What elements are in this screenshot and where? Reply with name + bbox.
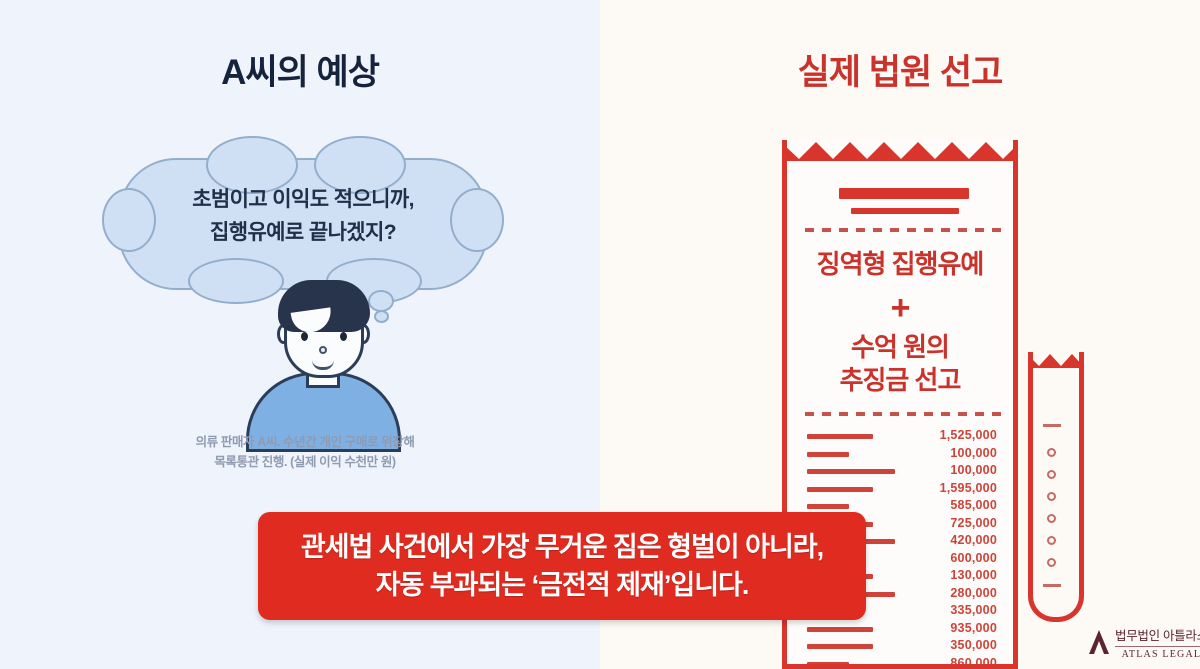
receipt-secondary: [1028, 352, 1084, 622]
thought-line-2: 집행유예로 끝나겠지?: [118, 217, 488, 250]
person-eye-right: [340, 332, 347, 341]
verdict-line-1: 징역형 집행유예: [787, 244, 1013, 281]
receipt-item-row: 100,000: [787, 446, 1013, 464]
logo-korean-name: 법무법인 아틀라스: [1115, 625, 1200, 644]
thought-line-1: 초범이고 이익도 적으니까,: [118, 184, 488, 217]
banner-line-1: 관세법 사건에서 가장 무거운 짐은 형벌이 아니라,: [301, 528, 823, 566]
verdict-line-2a: 수억 원의: [787, 331, 1013, 364]
receipt-item-row: 100,000: [787, 463, 1013, 481]
receipt-item-label-bar: [807, 504, 849, 509]
logo-text-block: 법무법인 아틀라스 ATLAS LEGAL: [1115, 625, 1200, 660]
receipt-item-label-bar: [807, 434, 873, 439]
receipt-header-bar-thin: [851, 208, 959, 214]
receipt-item-row: 860,000: [787, 656, 1013, 669]
receipt-header-bar-thick: [839, 188, 969, 199]
banner-text: 관세법 사건에서 가장 무거운 짐은 형벌이 아니라, 자동 부과되는 ‘금전적…: [301, 528, 823, 605]
receipt-item-row: 1,595,000: [787, 481, 1013, 499]
person-illustration: [236, 272, 411, 432]
caption-line-2: 목록통관 진행. (실제 이익 수천만 원): [120, 452, 490, 472]
receipt-item-amount: 1,525,000: [940, 428, 997, 442]
receipt-item-amount: 335,000: [950, 603, 997, 617]
receipt-item-amount: 350,000: [950, 638, 997, 652]
receipt-divider-middle: [805, 412, 1003, 416]
verdict-plus-sign: +: [787, 291, 1013, 325]
person-eye-left: [301, 332, 308, 341]
receipt-item-label-bar: [807, 627, 873, 632]
receipt-divider-top: [805, 228, 1003, 232]
receipt-item-amount: 935,000: [950, 621, 997, 635]
receipt-item-label-bar: [807, 469, 895, 474]
atlas-a-mark-icon: [1088, 629, 1110, 655]
thought-bubble-text: 초범이고 이익도 적으니까, 집행유예로 끝나겠지?: [118, 184, 488, 249]
key-message-banner: 관세법 사건에서 가장 무거운 짐은 형벌이 아니라, 자동 부과되는 ‘금전적…: [258, 512, 866, 620]
verdict-line-2b: 추징금 선고: [787, 364, 1013, 397]
receipt-item-label-bar: [807, 487, 873, 492]
receipt-zigzag-icon: [782, 140, 1018, 161]
logo-divider: [1115, 646, 1200, 647]
left-panel-caption: 의류 판매자 A씨. 수년간 개인 구매로 위장해 목록통관 진행. (실제 이…: [120, 432, 490, 472]
left-panel-title: A씨의 예상: [0, 44, 600, 95]
receipt-item-label-bar: [807, 662, 849, 667]
person-hair: [278, 280, 370, 332]
infographic-slide: A씨의 예상 초범이고 이익도 적으니까, 집행유예로 끝나겠지? 의류 판매자…: [0, 0, 1200, 669]
receipt-item-amount: 100,000: [950, 446, 997, 460]
banner-line-2: 자동 부과되는 ‘금전적 제재’입니다.: [301, 566, 823, 604]
receipt-item-amount: 600,000: [950, 551, 997, 565]
receipt-item-row: 1,525,000: [787, 428, 1013, 446]
receipt-item-amount: 860,000: [950, 656, 997, 669]
right-panel-title: 실제 법원 선고: [600, 44, 1200, 95]
caption-line-1: 의류 판매자 A씨. 수년간 개인 구매로 위장해: [120, 432, 490, 452]
receipt-secondary-zigzag-icon: [1028, 352, 1084, 368]
receipt-item-amount: 585,000: [950, 498, 997, 512]
receipt-verdict: 징역형 집행유예 + 수억 원의 추징금 선고: [787, 244, 1013, 396]
logo-english-name: ATLAS LEGAL: [1122, 649, 1200, 660]
receipt-item-amount: 100,000: [950, 463, 997, 477]
receipt-item-amount: 420,000: [950, 533, 997, 547]
person-nose: [319, 346, 327, 354]
receipt-item-label-bar: [807, 644, 873, 649]
brand-logo: 법무법인 아틀라스 ATLAS LEGAL: [1088, 620, 1196, 664]
receipt-item-amount: 130,000: [950, 568, 997, 582]
receipt-item-row: 935,000: [787, 621, 1013, 639]
receipt-item-amount: 725,000: [950, 516, 997, 530]
receipt-item-amount: 280,000: [950, 586, 997, 600]
receipt-item-row: 350,000: [787, 638, 1013, 656]
receipt-item-amount: 1,595,000: [940, 481, 997, 495]
receipt-item-label-bar: [807, 452, 849, 457]
